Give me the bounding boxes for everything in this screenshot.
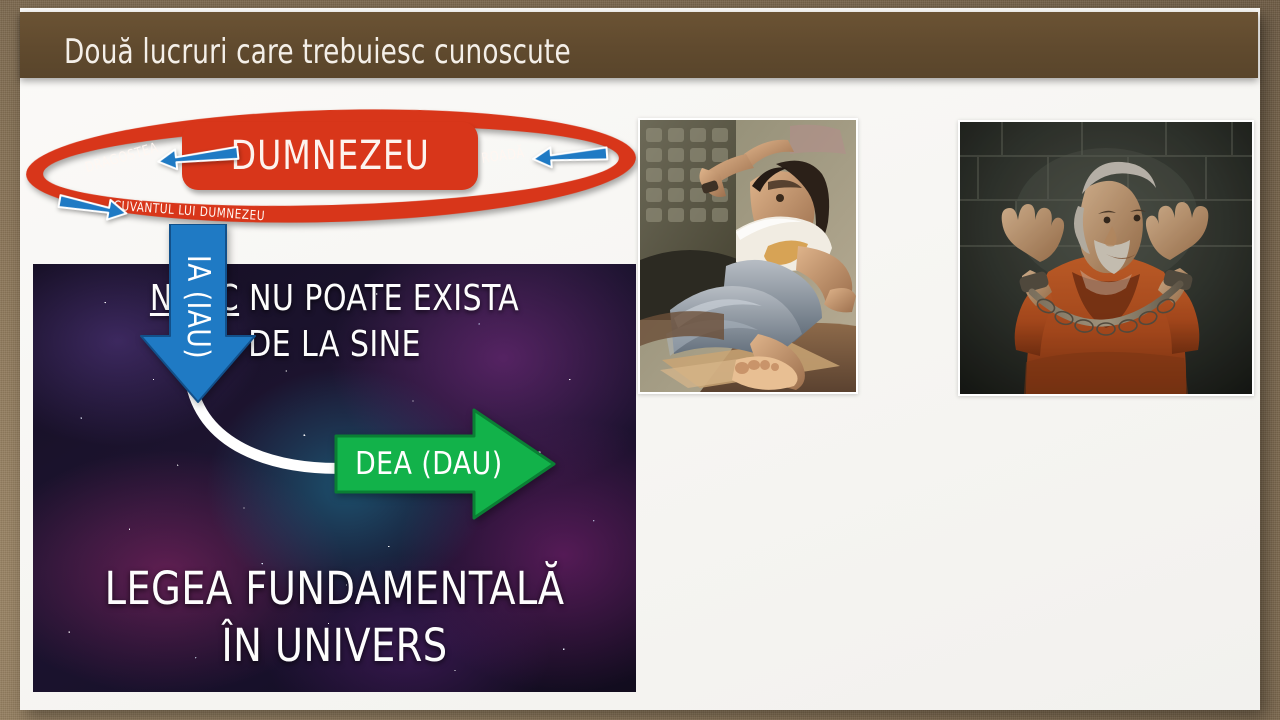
page-title: Două lucruri care trebuiesc cunoscute xyxy=(64,32,571,72)
chained-prisoner-painting-image xyxy=(960,122,1252,394)
cycle-diagram: DUMNEZEU DRAGOSTEA ROADĂ CUVÂNTUL LUI DU… xyxy=(26,110,636,235)
footline-line2: ÎN UNIVERS xyxy=(221,619,447,672)
footline-line1: LEGEA FUNDAMENTALĂ xyxy=(105,562,565,615)
poor-man-painting-image xyxy=(640,120,856,392)
photo-poor-man xyxy=(638,118,858,394)
dumnezeu-label: DUMNEZEU xyxy=(230,136,429,176)
blue-arrow-left-roada-icon xyxy=(530,140,610,171)
photo-chained-prisoner xyxy=(958,120,1254,396)
blue-down-arrow-ia xyxy=(139,224,257,404)
green-right-arrow-dea xyxy=(334,408,556,520)
presentation-slide: Două lucruri care trebuiesc cunoscute DU… xyxy=(0,0,1280,720)
headline-rest: NU POATE EXISTA xyxy=(239,278,519,319)
space-footline: LEGEA FUNDAMENTALĂ ÎN UNIVERS xyxy=(48,560,621,674)
title-banner: Două lucruri care trebuiesc cunoscute xyxy=(20,12,1258,78)
